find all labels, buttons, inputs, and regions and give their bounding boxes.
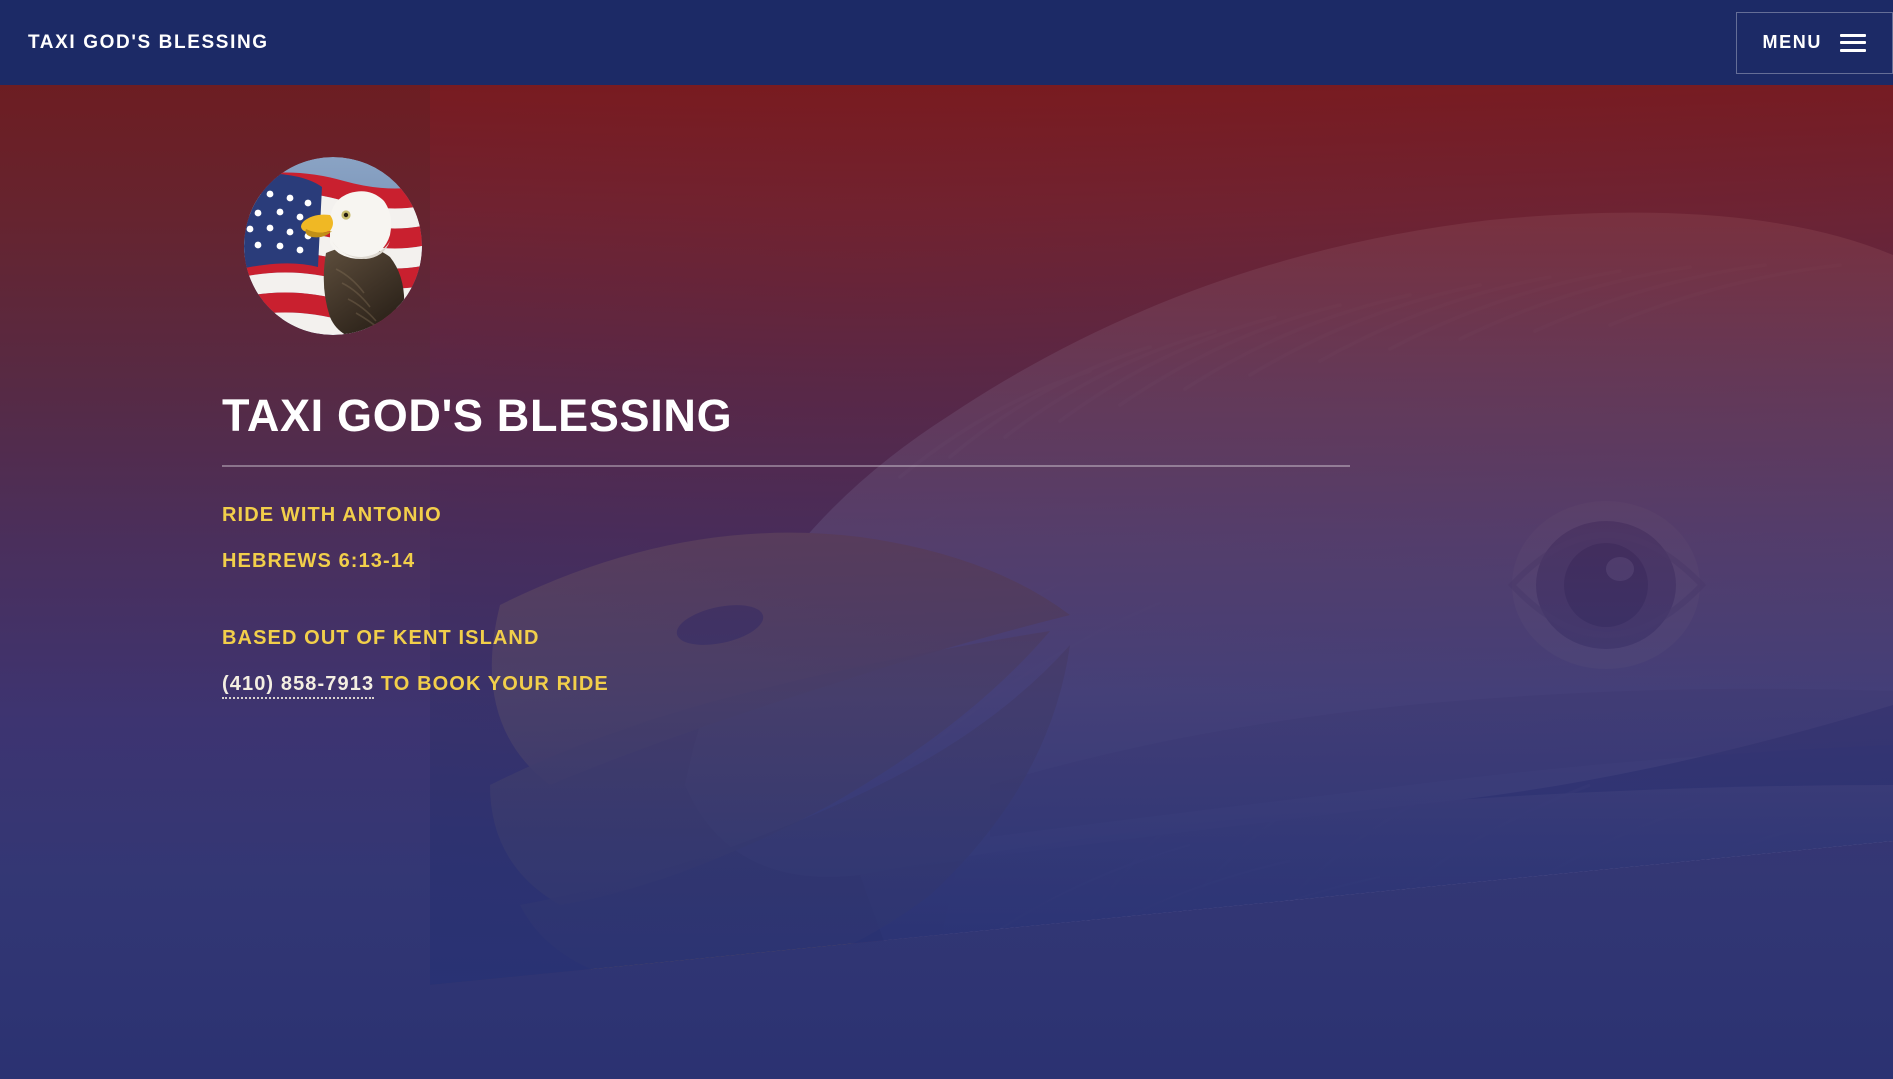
hamburger-icon xyxy=(1840,34,1866,52)
logo-image xyxy=(244,157,422,335)
title-divider xyxy=(222,465,1350,467)
tagline-ride-with: RIDE WITH ANTONIO xyxy=(222,505,442,525)
menu-button-label: MENU xyxy=(1763,32,1822,53)
page-root: TAXI GOD'S BLESSING MENU xyxy=(0,0,1893,1079)
hero-section: TAXI GOD'S BLESSING RIDE WITH ANTONIO HE… xyxy=(0,85,1893,1079)
contact-block: BASED OUT OF KENT ISLAND (410) 858-7913 … xyxy=(222,628,609,694)
page-title: TAXI GOD'S BLESSING xyxy=(222,391,732,441)
site-header: TAXI GOD'S BLESSING MENU xyxy=(0,0,1893,85)
contact-phone-line: (410) 858-7913 TO BOOK YOUR RIDE xyxy=(222,674,609,694)
phone-suffix-text: TO BOOK YOUR RIDE xyxy=(374,673,609,695)
phone-link[interactable]: (410) 858-7913 xyxy=(222,673,374,699)
menu-button[interactable]: MENU xyxy=(1736,12,1893,74)
contact-location: BASED OUT OF KENT ISLAND xyxy=(222,628,609,648)
tagline-scripture: HEBREWS 6:13-14 xyxy=(222,551,442,571)
brand-logo-text[interactable]: TAXI GOD'S BLESSING xyxy=(28,32,269,54)
hero-background-image xyxy=(430,85,1893,985)
tagline-block: RIDE WITH ANTONIO HEBREWS 6:13-14 xyxy=(222,505,442,571)
